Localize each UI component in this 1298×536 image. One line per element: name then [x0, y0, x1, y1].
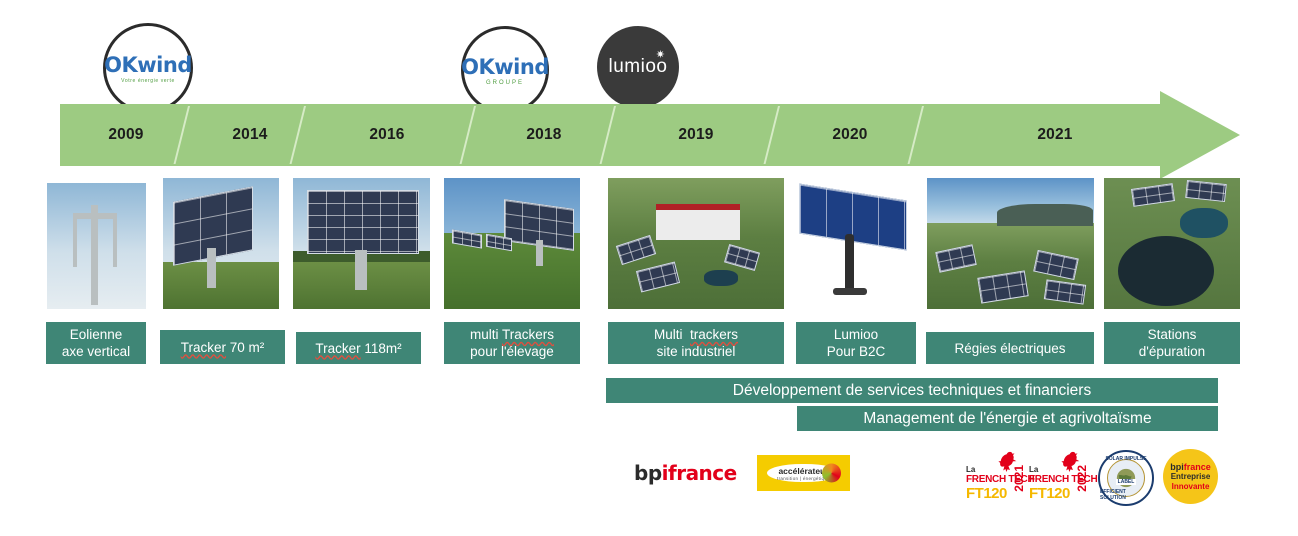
settling-pond [1180, 208, 1228, 238]
caption-text: Stationsd'épuration [1139, 326, 1205, 360]
solar-impulse-bottom-text: EFFICIENT SOLUTION [1100, 489, 1152, 501]
timeline-year-2014[interactable]: 2014 [202, 104, 298, 166]
okwind-groupe-tagline: GROUPE [486, 80, 524, 86]
globe-icon [1115, 467, 1137, 489]
turbine-blade [73, 217, 77, 267]
photo-ground [163, 262, 279, 309]
caption-lumioo-b2c: LumiooPour B2C [796, 322, 916, 364]
solar-impulse-label-logo: SOLAR IMPULSE LABEL EFFICIENT SOLUTION [1098, 450, 1154, 506]
timeline-year-2021[interactable]: 2021 [950, 104, 1160, 166]
accelerateur-title: accélérateur [778, 466, 828, 476]
turbine-mast [91, 205, 98, 305]
okwind-tagline: Votre énergie verte [121, 78, 175, 84]
photo-wind-turbine [47, 183, 146, 309]
caption-tracker-70: Tracker 70 m² [160, 330, 285, 364]
photo-village-trackers [927, 178, 1094, 309]
tracker-mast [207, 248, 216, 288]
photo-wastewater-plant [1104, 178, 1240, 309]
timeline-year-2009[interactable]: 2009 [78, 104, 174, 166]
french-tech-year: 2021 [1012, 465, 1026, 492]
solar-panel [307, 190, 419, 254]
timeline-arrow: 2009 2014 2016 2018 2019 2020 2021 [60, 104, 1240, 166]
hill-ridge [997, 204, 1093, 226]
tracker-mast [536, 240, 543, 266]
sun-icon: ✷ [656, 48, 665, 61]
clarifier-tank [1118, 236, 1214, 306]
caption-multi-trackers-industriel: Multi trackerssite industriel [608, 322, 784, 364]
photo-lumioo-product [793, 178, 913, 309]
caption-text: Tracker 70 m² [181, 339, 265, 356]
bpifrance-entreprise-innovante-logo: bpifrance Entreprise Innovante [1163, 449, 1218, 504]
bpifrance-logo: bpifrance [634, 461, 737, 485]
turbine-blade [113, 217, 117, 267]
caption-multi-trackers-elevage: multi Trackerspour l'élevage [444, 322, 580, 364]
tracker-mast [355, 250, 367, 290]
accelerateur-logo: accélérateur transition | énergétique [757, 455, 850, 491]
caption-text: LumiooPour B2C [827, 326, 886, 360]
band-developpement-services: Développement de services techniques et … [606, 378, 1218, 403]
product-mast [845, 234, 854, 292]
photo-multi-trackers-livestock [444, 178, 580, 309]
caption-tracker-118: Tracker 118m² [296, 332, 421, 364]
bpi-circle-line2: Innovante [1172, 482, 1210, 492]
bpi-circle-line1: Entreprise [1171, 472, 1211, 482]
caption-text: Eolienneaxe vertical [62, 326, 130, 360]
site-pond [704, 270, 738, 286]
timeline-year-2019[interactable]: 2019 [626, 104, 766, 166]
lumioo-logo-2019: lumioo ✷ [597, 26, 679, 108]
french-tech-2022-logo: La FRENCH TECH FT120 2022 [1029, 452, 1087, 494]
caption-text: Tracker 118m² [315, 340, 401, 357]
solar-impulse-top-text: SOLAR IMPULSE [1105, 456, 1146, 462]
product-base [833, 288, 867, 295]
band-management-energie: Management de l'énergie et agrivoltaïsme [797, 406, 1218, 431]
caption-eolienne: Eolienneaxe vertical [46, 322, 146, 364]
okwind-logo-2009: OKwind Votre énergie verte [103, 23, 193, 113]
caption-regies-electriques: Régies électriques [926, 332, 1094, 364]
caption-text: Multi trackerssite industriel [654, 326, 738, 360]
caption-text: multi Trackerspour l'élevage [470, 326, 554, 360]
timeline-year-2018[interactable]: 2018 [484, 104, 604, 166]
french-tech-2021-logo: La FRENCH TECH FT120 2021 [966, 452, 1024, 494]
caption-text: Régies électriques [954, 340, 1065, 357]
timeline-year-2016[interactable]: 2016 [322, 104, 452, 166]
solar-impulse-middle-text: LABEL [1116, 479, 1137, 485]
turbine-hub [73, 213, 117, 219]
caption-stations-epuration: Stationsd'épuration [1104, 322, 1240, 364]
bpi-circle-brand: bpifrance [1170, 462, 1211, 472]
okwind-groupe-logo-2018: OKwind GROUPE [461, 26, 549, 114]
arrow-head [1160, 91, 1240, 179]
okwind-wordmark: OKwind [104, 53, 192, 77]
timeline-year-2020[interactable]: 2020 [790, 104, 910, 166]
photo-industrial-site [608, 178, 784, 309]
okwind-groupe-wordmark: OKwind [461, 55, 549, 79]
accelerateur-swirl-icon [822, 464, 841, 483]
site-building [656, 204, 740, 240]
photo-tracker-70 [163, 178, 279, 309]
photo-tracker-118 [293, 178, 430, 309]
french-tech-year: 2022 [1075, 465, 1089, 492]
